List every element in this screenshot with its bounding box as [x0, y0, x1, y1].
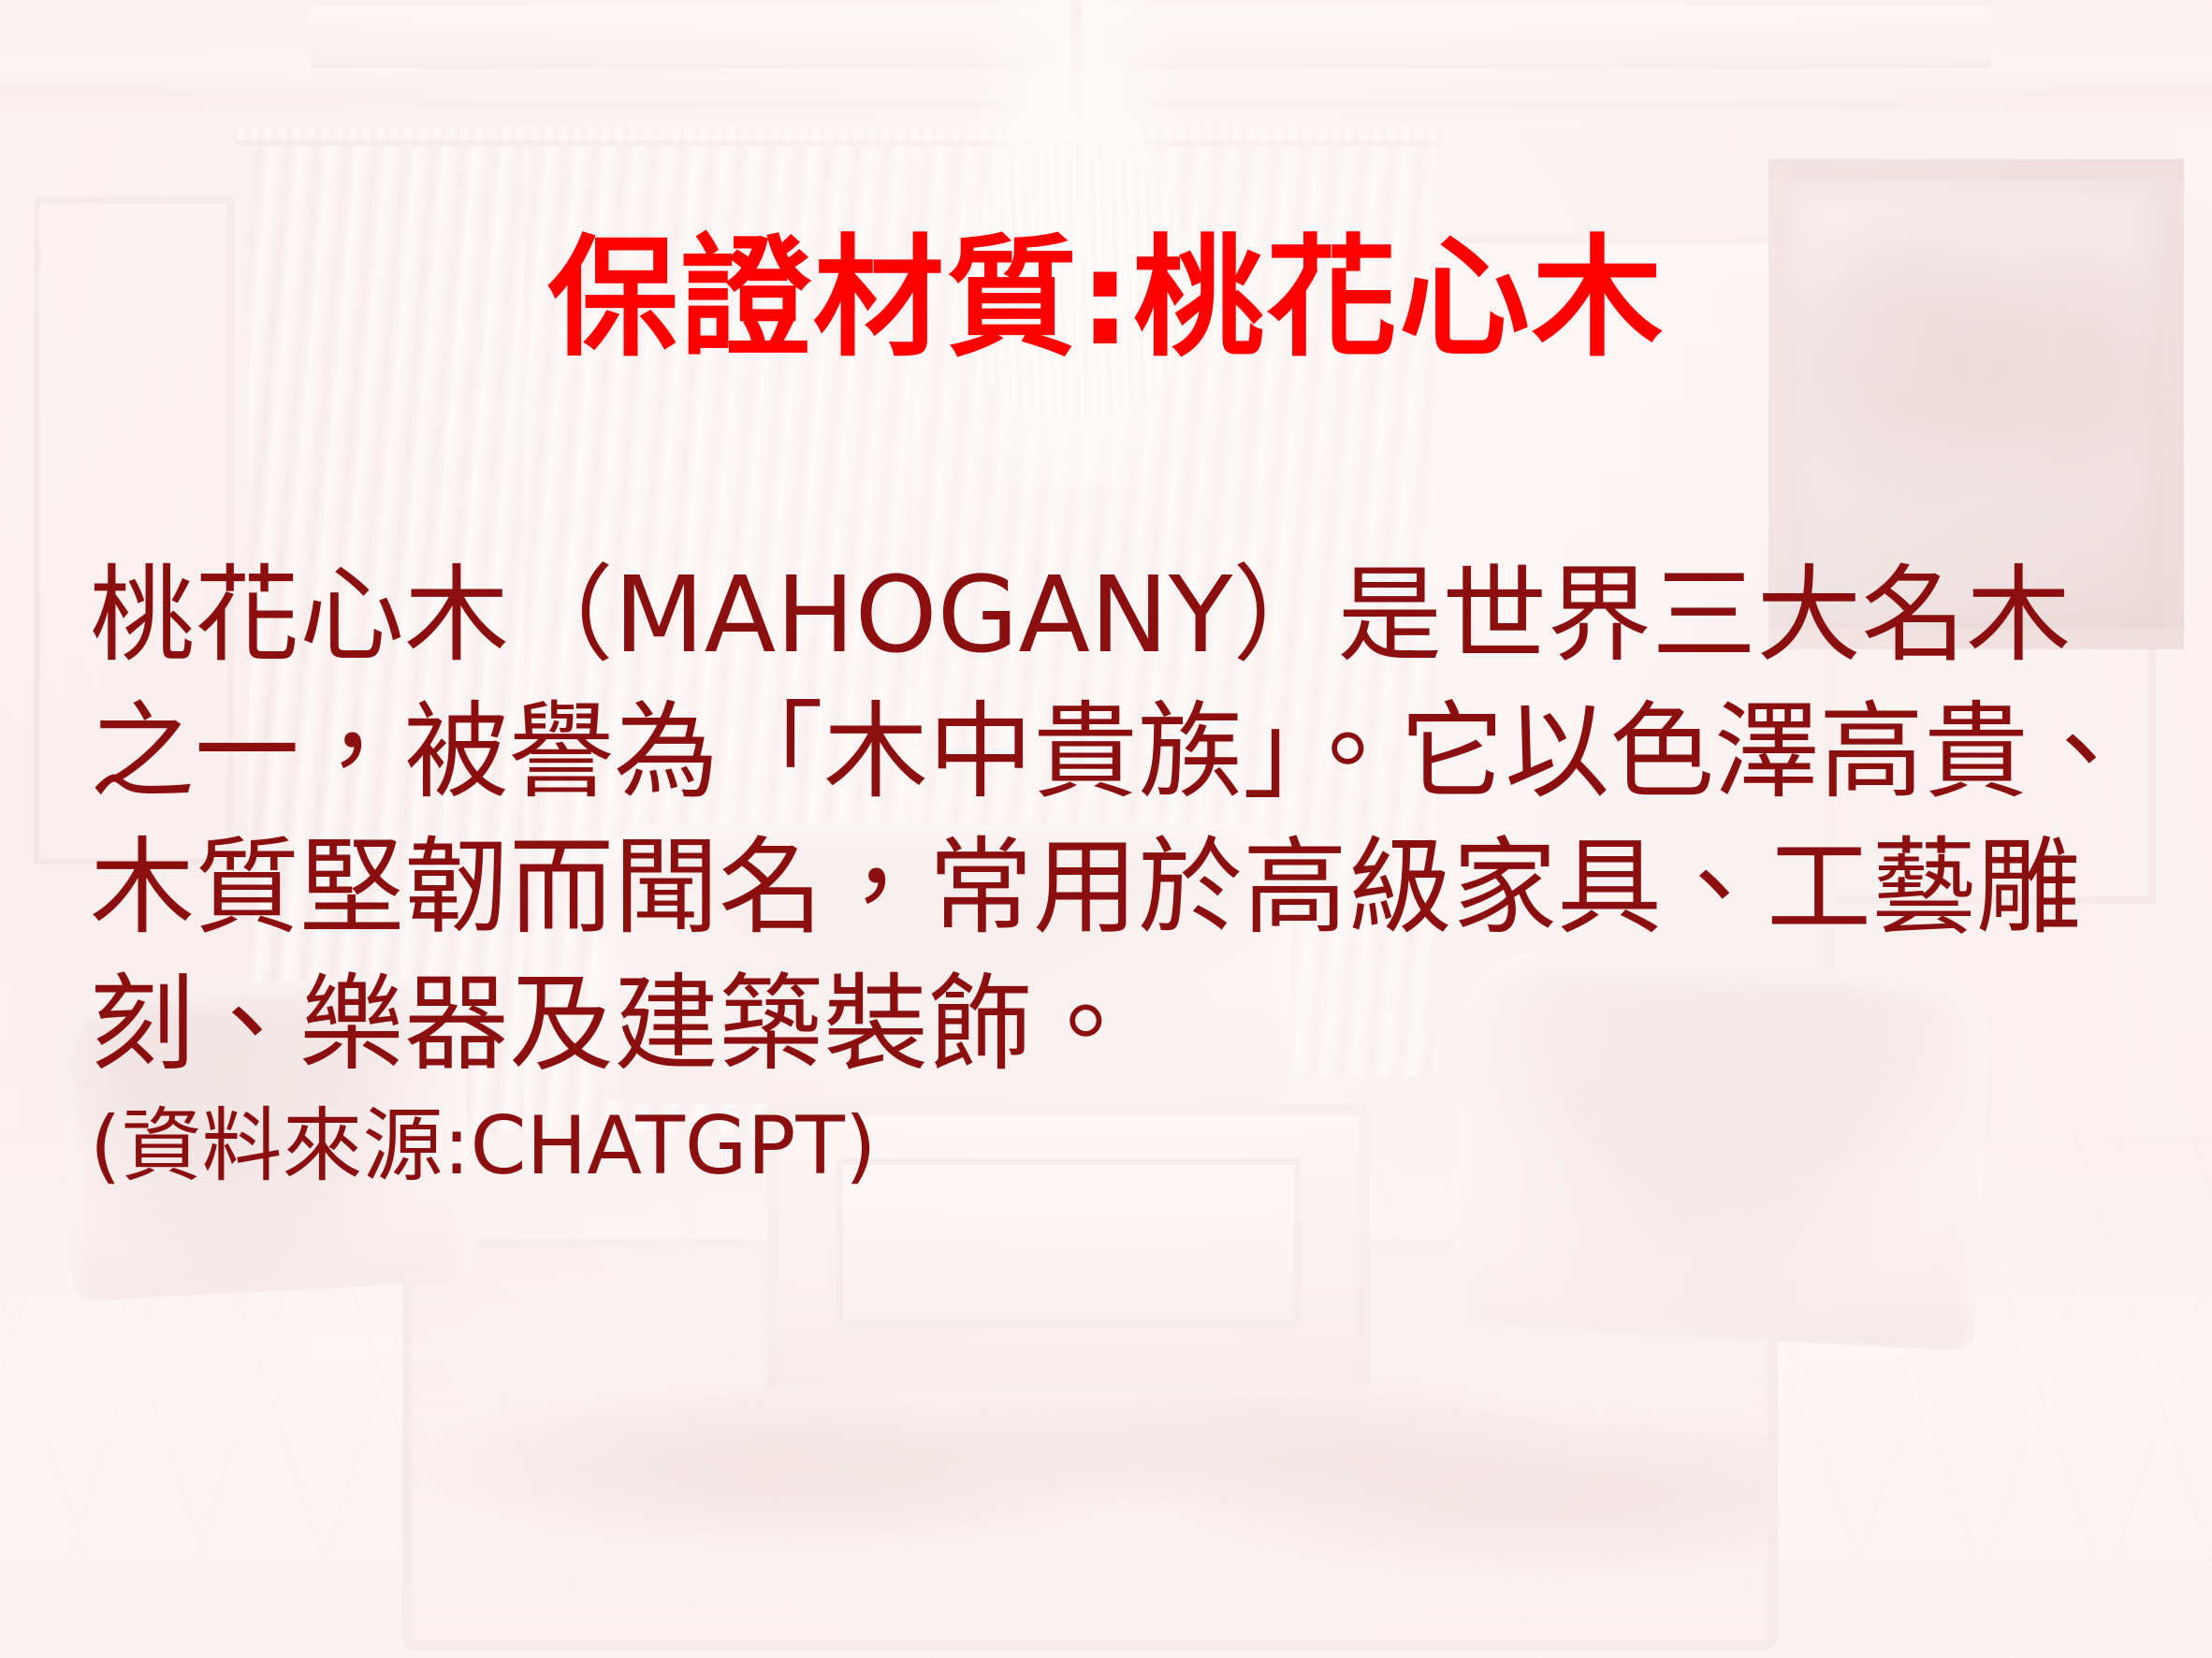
slide-content: 保證材質:桃花心木 桃花心木（MAHOGANY）是世界三大名木之一，被譽為「木中…	[0, 0, 2212, 1658]
presentation-slide: 保證材質:桃花心木 桃花心木（MAHOGANY）是世界三大名木之一，被譽為「木中…	[0, 0, 2212, 1658]
body-paragraph: 桃花心木（MAHOGANY）是世界三大名木之一，被譽為「木中貴族」。它以色澤高貴…	[90, 548, 2139, 1093]
source-note: (資料來源:CHATGPT)	[90, 1098, 2139, 1195]
slide-title: 保證材質:桃花心木	[0, 226, 2212, 373]
slide-body: 桃花心木（MAHOGANY）是世界三大名木之一，被譽為「木中貴族」。它以色澤高貴…	[90, 548, 2139, 1196]
